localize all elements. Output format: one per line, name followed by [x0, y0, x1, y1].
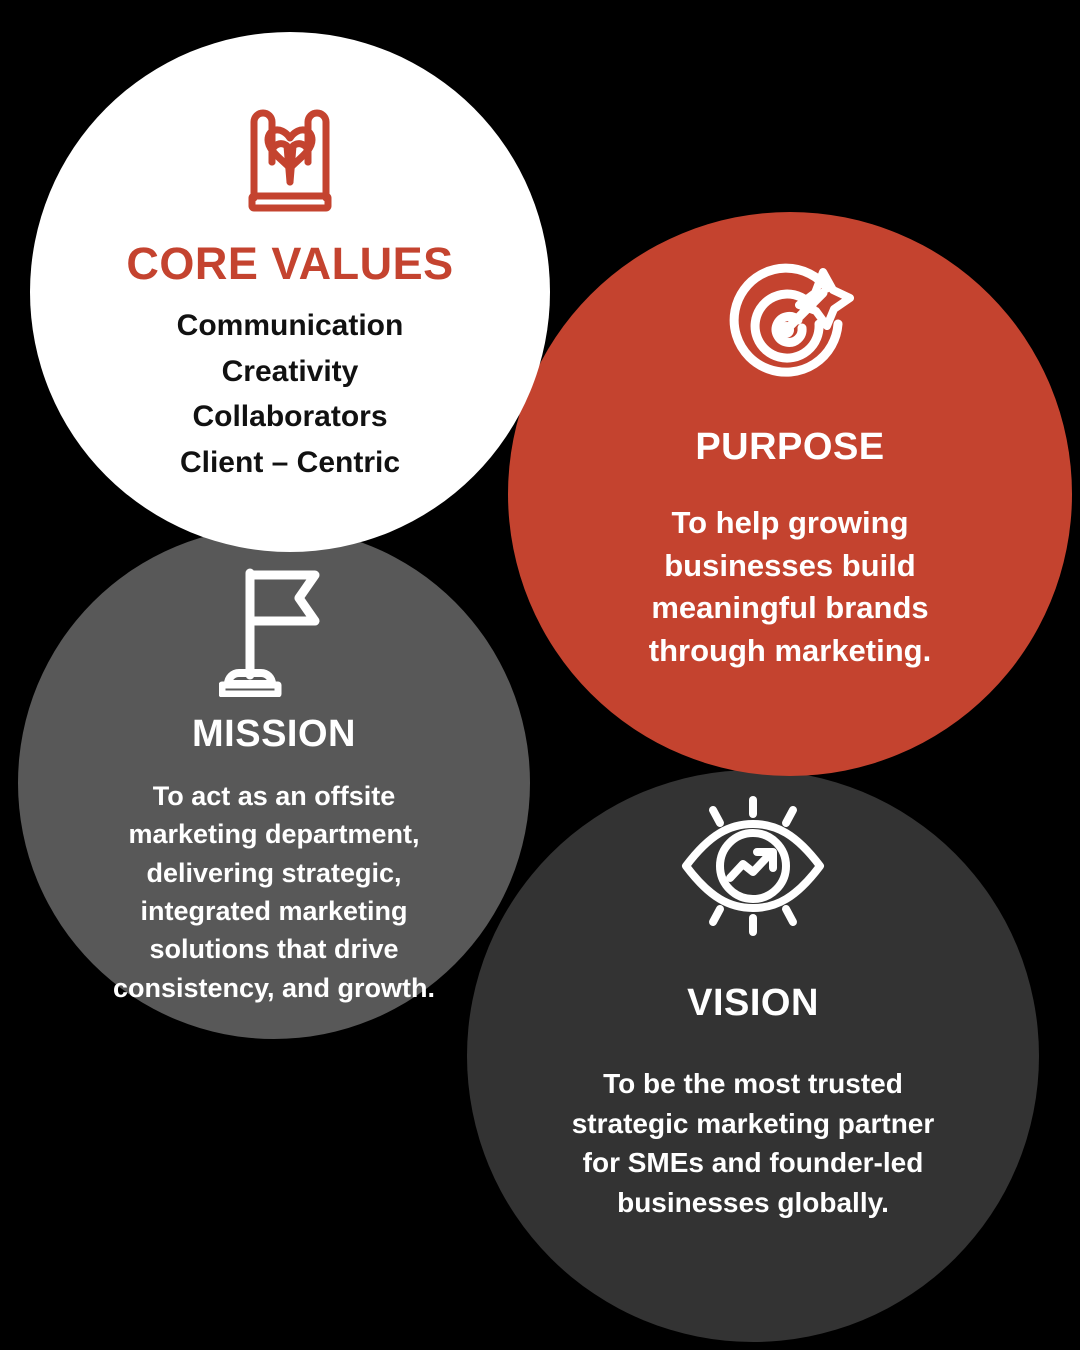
vision-body: To be the most trusted strategic marketi…	[553, 1064, 953, 1223]
purpose-title: PURPOSE	[695, 428, 884, 468]
vision-title: VISION	[687, 984, 819, 1024]
purpose-body: To help growing businesses build meaning…	[600, 502, 980, 673]
core-value-item: Collaborators	[80, 394, 500, 440]
mission-body: To act as an offsite marketing departmen…	[99, 777, 449, 1007]
infographic-canvas: MISSION To act as an offsite marketing d…	[0, 0, 1080, 1350]
flag-icon	[219, 557, 329, 697]
vision-bubble[interactable]: VISION To be the most trusted strategic …	[467, 770, 1039, 1342]
core-value-item: Client – Centric	[80, 440, 500, 486]
core-value-item: Creativity	[80, 349, 500, 395]
purpose-bubble[interactable]: PURPOSE To help growing businesses build…	[508, 212, 1072, 776]
core-values-list: Communication Creativity Collaborators C…	[80, 303, 500, 485]
mission-title: MISSION	[192, 715, 356, 755]
core-values-bubble[interactable]: CORE VALUES Communication Creativity Col…	[30, 32, 550, 552]
mission-bubble[interactable]: MISSION To act as an offsite marketing d…	[18, 527, 530, 1039]
core-values-title: CORE VALUES	[126, 240, 453, 287]
hands-holding-heart-icon	[228, 90, 352, 214]
core-value-item: Communication	[80, 303, 500, 349]
eye-growth-icon	[678, 796, 828, 936]
target-arrow-icon	[726, 262, 854, 390]
